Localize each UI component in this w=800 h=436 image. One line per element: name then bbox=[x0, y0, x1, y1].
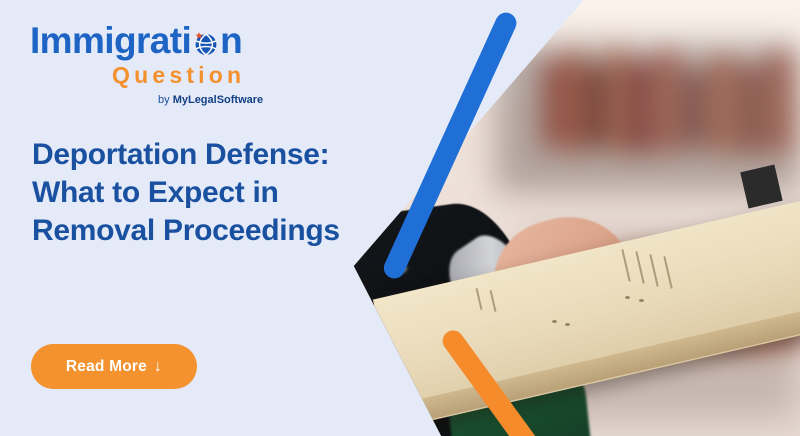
byline-company: MyLegalSoftware bbox=[173, 94, 263, 106]
brand-logo[interactable]: Immigrati n Question by MyLegalSoftware bbox=[30, 22, 330, 106]
globe-icon bbox=[192, 29, 219, 56]
blog-promo-banner: Immigrati n Question by MyLegalSoftware … bbox=[0, 0, 800, 436]
brand-name-primary: Immigrati n bbox=[30, 22, 330, 59]
headline-title: Deportation Defense: What to Expect in R… bbox=[32, 136, 362, 250]
read-more-label: Read More bbox=[66, 358, 147, 376]
brand-byline: by MyLegalSoftware bbox=[158, 95, 330, 106]
brand-name-part2: n bbox=[220, 20, 242, 61]
read-more-button[interactable]: Read More ↓ bbox=[31, 344, 197, 389]
byline-prefix: by bbox=[158, 94, 173, 106]
arrow-down-icon: ↓ bbox=[154, 359, 162, 375]
brand-name-secondary: Question bbox=[112, 64, 330, 87]
brand-name-part1: Immigrati bbox=[30, 20, 191, 61]
